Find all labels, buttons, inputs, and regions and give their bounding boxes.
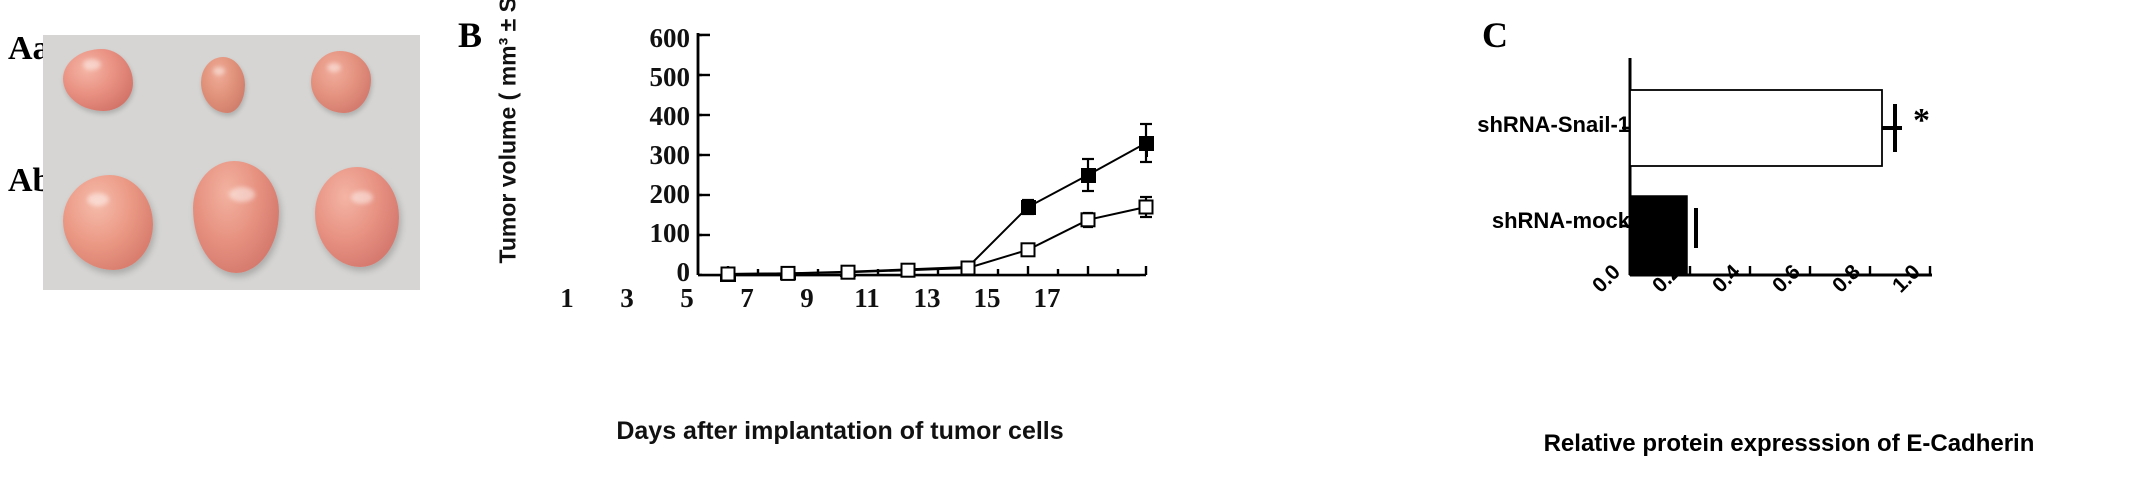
figure-root: Aa Ab B Tumor volume ( mm³ ± SD ) 600 50…	[0, 0, 2138, 479]
tumor-specimen	[63, 49, 133, 111]
data-marker-open-square	[842, 266, 855, 279]
tumor-highlight	[351, 191, 373, 204]
tumor-photograph	[43, 35, 420, 290]
panel-b: B Tumor volume ( mm³ ± SD ) 600 500 400 …	[440, 0, 1440, 479]
data-marker-open-square	[1022, 243, 1035, 256]
panel-c-plot	[1440, 0, 2138, 420]
data-marker-open-square	[1140, 201, 1153, 214]
data-marker-filled-square	[1139, 136, 1154, 151]
data-marker-open-square	[902, 264, 915, 277]
panel-a: Aa Ab	[0, 0, 440, 479]
tumor-highlight	[327, 63, 341, 72]
bar-shrna-mock	[1630, 196, 1687, 275]
tumor-specimen	[63, 175, 153, 270]
bar-shrna-snail-1	[1630, 90, 1882, 166]
data-marker-filled-square	[1081, 168, 1096, 183]
data-marker-filled-square	[1021, 200, 1036, 215]
tumor-specimen	[201, 57, 245, 113]
data-marker-open-square	[782, 267, 795, 280]
data-marker-open-square	[1082, 213, 1095, 226]
tumor-specimen	[311, 51, 371, 113]
panel-c: C shRNA-Snail-1 shRNA-mock * 0.0 0.2 0.4…	[1440, 0, 2138, 479]
panel-c-x-axis-title: Relative protein expresssion of E-Cadher…	[1440, 430, 2138, 458]
tumor-specimen	[315, 167, 399, 267]
data-marker-open-square	[722, 268, 735, 281]
tumor-highlight	[213, 67, 225, 75]
panel-b-x-axis-title: Days after implantation of tumor cells	[560, 417, 1120, 446]
panel-b-series-overlay	[440, 0, 1440, 420]
tumor-highlight	[87, 193, 109, 206]
data-marker-open-square	[962, 262, 975, 275]
tumor-highlight	[229, 187, 255, 202]
tumor-highlight	[83, 59, 101, 70]
tumor-specimen	[193, 161, 279, 273]
error-bar-shrna-snail-1	[1882, 104, 1902, 152]
